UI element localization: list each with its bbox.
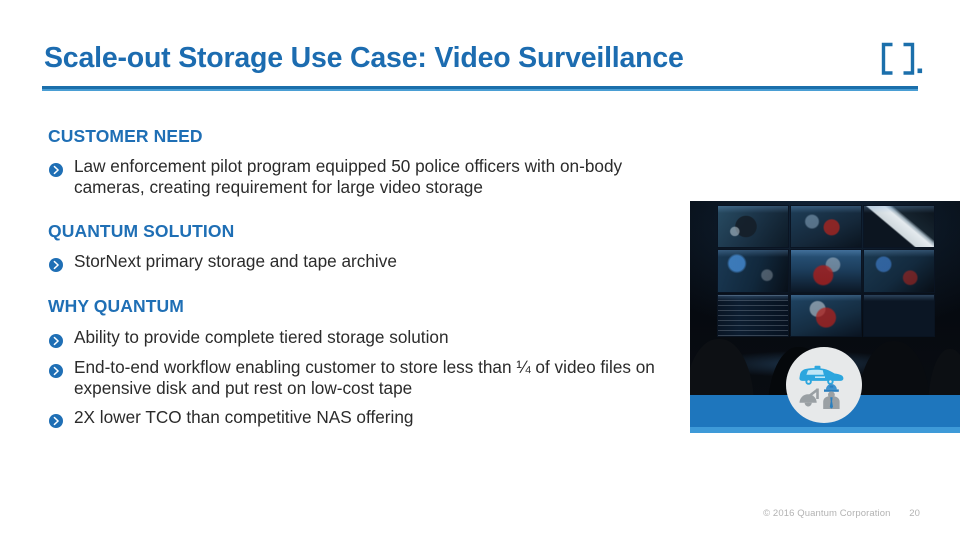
photo-footer-accent-bar [690,427,960,433]
video-tile [718,295,788,336]
section-heading-why-quantum: WHY QUANTUM [48,296,678,316]
video-tile [791,295,861,336]
list-item-text: 2X lower TCO than competitive NAS offeri… [74,407,678,428]
section-why-quantum: WHY QUANTUM Ability to provide complete … [48,296,678,428]
video-tile [791,206,861,247]
chevron-right-circle-icon [49,362,63,376]
bullet-list-quantum-solution: StorNext primary storage and tape archiv… [48,251,678,272]
chevron-right-circle-icon [49,256,63,270]
quantum-bracket-logo-icon [879,42,927,76]
page-title: Scale-out Storage Use Case: Video Survei… [44,42,684,75]
police-car-icon [799,366,843,385]
list-item: Law enforcement pilot program equipped 5… [48,156,678,199]
slide-canvas: Scale-out Storage Use Case: Video Survei… [0,0,960,540]
copyright-text: © 2016 Quantum Corporation [763,508,890,519]
video-tile [864,250,934,291]
section-heading-quantum-solution: QUANTUM SOLUTION [48,221,678,241]
content-column: CUSTOMER NEED Law enforcement pilot prog… [48,126,678,429]
list-item-text: End-to-end workflow enabling customer to… [74,357,678,400]
bullet-list-why-quantum: Ability to provide complete tiered stora… [48,327,678,428]
list-item-text: StorNext primary storage and tape archiv… [74,251,678,272]
list-item: 2X lower TCO than competitive NAS offeri… [48,407,678,428]
surveillance-icon-badge [786,347,862,423]
divider-line-light [42,89,918,91]
list-item: Ability to provide complete tiered stora… [48,327,678,348]
title-divider [42,86,918,91]
video-wall [718,206,934,336]
chevron-right-circle-icon [49,161,63,175]
chevron-right-circle-icon [49,332,63,346]
video-tile [864,206,934,247]
chevron-right-circle-icon [49,412,63,426]
bullet-list-customer-need: Law enforcement pilot program equipped 5… [48,156,678,199]
page-number: 20 [909,508,920,519]
slide-footer: © 2016 Quantum Corporation 20 [640,508,920,519]
list-item-text: Ability to provide complete tiered stora… [74,327,678,348]
video-tile [864,295,934,336]
section-customer-need: CUSTOMER NEED Law enforcement pilot prog… [48,126,678,199]
dome-camera-icon [800,389,819,407]
video-tile [718,206,788,247]
section-quantum-solution: QUANTUM SOLUTION StorNext primary storag… [48,221,678,272]
police-officer-icon [823,384,839,409]
video-tile [718,250,788,291]
section-heading-customer-need: CUSTOMER NEED [48,126,678,146]
list-item-text: Law enforcement pilot program equipped 5… [74,156,678,199]
video-tile [791,250,861,291]
list-item: StorNext primary storage and tape archiv… [48,251,678,272]
list-item: End-to-end workflow enabling customer to… [48,357,678,400]
